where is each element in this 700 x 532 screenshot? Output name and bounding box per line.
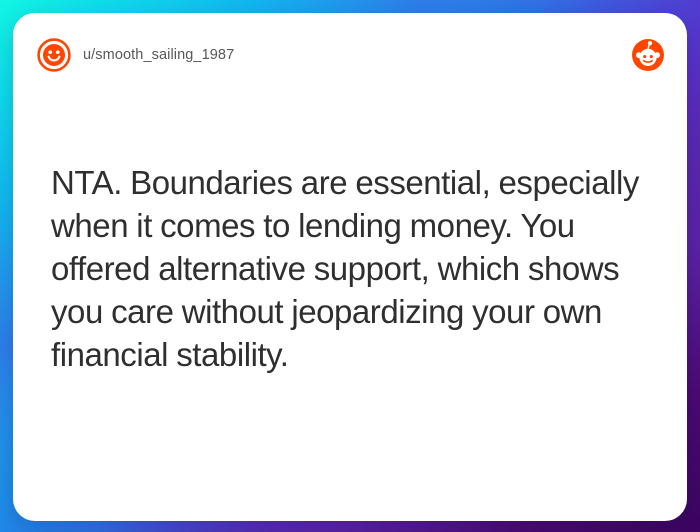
post-text: NTA. Boundaries are essential, especiall… (51, 161, 667, 376)
user-identity-block[interactable]: u/smooth_sailing_1987 (37, 38, 631, 72)
reddit-snoo-logo-icon[interactable] (631, 38, 665, 72)
username-label: u/smooth_sailing_1987 (83, 47, 234, 63)
gradient-background: u/smooth_sailing_1987 NTA. Boundaries ar… (0, 0, 700, 532)
card-header: u/smooth_sailing_1987 (13, 13, 687, 97)
reddit-comment-card: u/smooth_sailing_1987 NTA. Boundaries ar… (13, 13, 687, 521)
card-body: NTA. Boundaries are essential, especiall… (51, 161, 667, 376)
smiley-face-avatar-icon[interactable] (37, 38, 71, 72)
